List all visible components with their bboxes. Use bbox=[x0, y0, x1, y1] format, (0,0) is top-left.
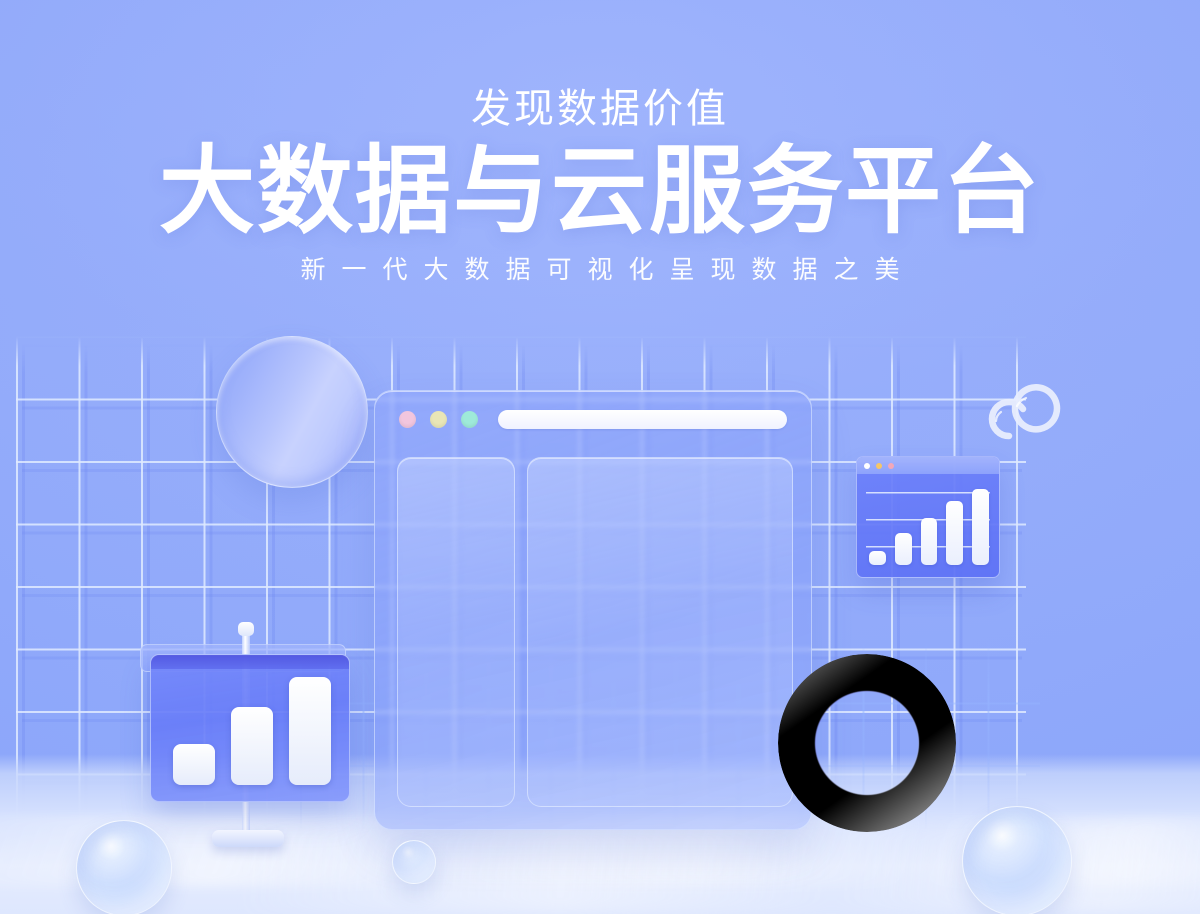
eyebrow-text: 发现数据价值 bbox=[0, 86, 1200, 133]
poster-stage: 发现数据价值 大数据与云服务平台 新一代大数据可视化呈现数据之美 bbox=[0, 0, 1200, 914]
widget-dot-pink[interactable] bbox=[888, 463, 894, 469]
glass-sphere-left bbox=[76, 820, 172, 914]
browser-titlebar bbox=[375, 391, 811, 447]
headline-block: 发现数据价值 大数据与云服务平台 新一代大数据可视化呈现数据之美 bbox=[0, 86, 1200, 285]
tagline-text: 新一代大数据可视化呈现数据之美 bbox=[0, 255, 1200, 285]
bar-chart-widget[interactable] bbox=[856, 456, 1000, 578]
monitor-stand-base bbox=[212, 830, 284, 847]
glass-browser-mockup[interactable] bbox=[374, 390, 812, 830]
widget-chart-area bbox=[857, 474, 999, 578]
cloud-outline-icon bbox=[976, 368, 1072, 448]
content-pane[interactable] bbox=[527, 457, 793, 807]
bar-3 bbox=[921, 518, 938, 565]
glass-sphere-right bbox=[962, 806, 1072, 914]
address-bar[interactable] bbox=[498, 410, 787, 429]
monitor-screen bbox=[150, 654, 350, 802]
minimize-dot[interactable] bbox=[430, 411, 447, 428]
widget-titlebar bbox=[857, 457, 999, 474]
bar-5 bbox=[972, 489, 989, 565]
sidebar-pane[interactable] bbox=[397, 457, 515, 807]
monitor-bar-chart[interactable] bbox=[136, 640, 362, 858]
glass-sphere-mid bbox=[392, 840, 436, 884]
monitor-stand-cap bbox=[238, 622, 254, 636]
widget-dot-orange[interactable] bbox=[876, 463, 882, 469]
bar-4 bbox=[946, 501, 963, 565]
browser-panes bbox=[397, 457, 793, 807]
glass-donut-chart bbox=[778, 654, 956, 832]
monitor-bar-2 bbox=[231, 707, 273, 785]
monitor-screen-titlebar bbox=[151, 655, 349, 669]
glass-disc bbox=[216, 336, 368, 488]
maximize-dot[interactable] bbox=[461, 411, 478, 428]
monitor-bar-1 bbox=[173, 744, 215, 785]
bar-1 bbox=[869, 551, 886, 565]
monitor-bar-3 bbox=[289, 677, 331, 785]
bar-2 bbox=[895, 533, 912, 565]
widget-bar-series bbox=[869, 489, 989, 565]
close-dot[interactable] bbox=[399, 411, 416, 428]
monitor-bar-series bbox=[173, 677, 331, 785]
widget-dot-white[interactable] bbox=[864, 463, 870, 469]
page-title: 大数据与云服务平台 bbox=[0, 141, 1200, 243]
